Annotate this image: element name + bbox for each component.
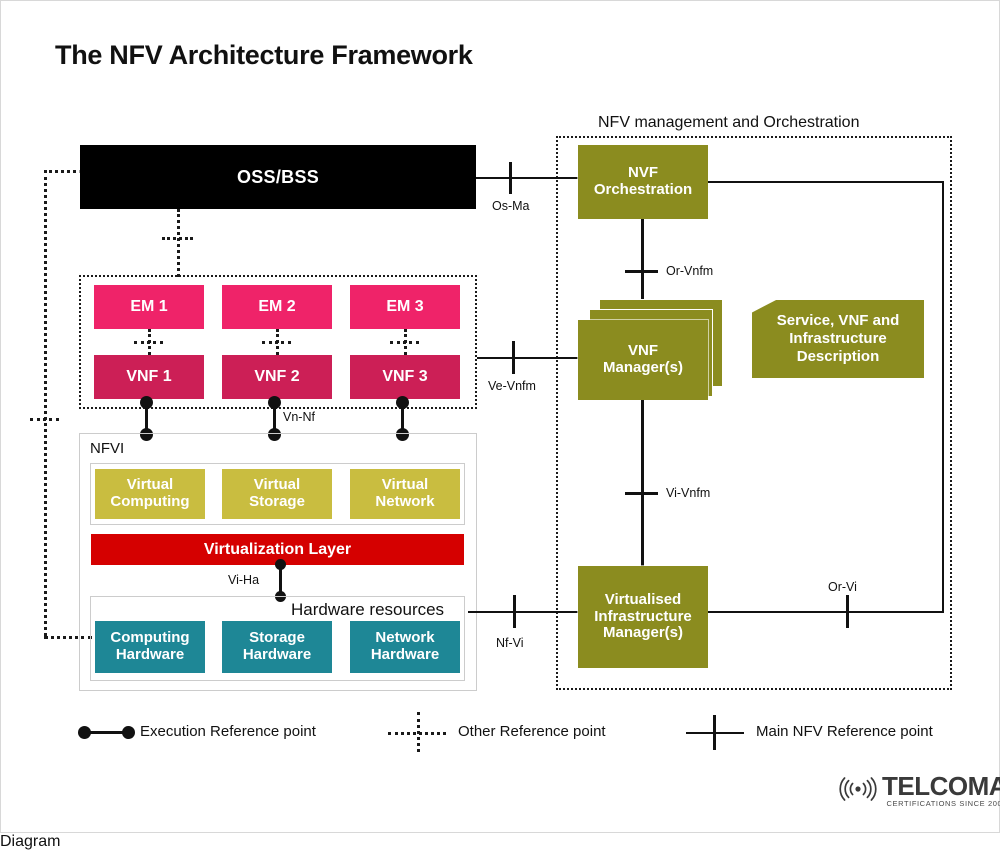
connector-os-ma	[476, 177, 582, 179]
block-computing-hardware[interactable]: ComputingHardware	[95, 621, 205, 673]
block-vnf-2[interactable]: VNF 2	[222, 355, 332, 399]
main-reference-point-tick-ve-vnfm	[512, 341, 515, 374]
reference-label-or-vnfm: Or-Vnfm	[666, 264, 713, 278]
block-virtual-storage[interactable]: VirtualStorage	[222, 469, 332, 519]
legend-execution-dot-right	[122, 726, 135, 739]
block-network-hardware[interactable]: NetworkHardware	[350, 621, 460, 673]
dotted-connector-ossbss-left	[44, 170, 82, 173]
other-reference-point-tick-em3	[390, 341, 419, 344]
legend-execution-dot-left	[78, 726, 91, 739]
nfvi-label: NFVI	[90, 440, 124, 457]
dotted-connector-left-vertical	[44, 170, 47, 636]
block-virtual-network[interactable]: VirtualNetwork	[350, 469, 460, 519]
block-vnf-3[interactable]: VNF 3	[350, 355, 460, 399]
connector-ve-vnfm	[477, 357, 582, 359]
block-vnf-manager[interactable]: VNFManager(s)	[578, 320, 708, 400]
execution-reference-dot-vnf3-top	[396, 396, 409, 409]
other-reference-point-tick-em2	[262, 341, 291, 344]
block-nvf-orchestration[interactable]: NVFOrchestration	[578, 145, 708, 219]
legend-label-execution: Execution Reference point	[140, 723, 316, 740]
main-reference-point-tick-vi-vnfm	[625, 492, 658, 495]
connector-nf-vi	[468, 611, 582, 613]
legend-other-tick	[417, 712, 420, 752]
block-virtual-computing[interactable]: VirtualComputing	[95, 469, 205, 519]
dotted-connector-ossbss-to-em	[177, 209, 180, 277]
diagram-canvas: The NFV Architecture Framework NFV manag…	[0, 0, 1000, 833]
block-virtualised-infrastructure-manager[interactable]: VirtualisedInfrastructureManager(s)	[578, 566, 708, 668]
main-reference-point-tick-os-ma	[509, 162, 512, 194]
reference-label-nf-vi: Nf-Vi	[496, 636, 524, 650]
reference-label-ve-vnfm: Ve-Vnfm	[488, 379, 536, 393]
other-reference-point-tick-ossbss-em	[162, 237, 193, 240]
execution-reference-dot-vi-ha-top	[275, 559, 286, 570]
legend-main-tick	[713, 715, 716, 750]
legend-label-main: Main NFV Reference point	[756, 723, 933, 740]
main-reference-point-tick-or-vi	[846, 595, 849, 628]
connector-or-vi-top	[708, 181, 944, 183]
block-storage-hardware[interactable]: StorageHardware	[222, 621, 332, 673]
connector-or-vi-bottom	[708, 611, 944, 613]
block-em-1[interactable]: EM 1	[94, 285, 204, 329]
block-oss-bss[interactable]: OSS/BSS	[80, 145, 476, 209]
connector-vi-vnfm	[641, 400, 644, 566]
broadcast-signal-icon	[838, 776, 878, 807]
legend-label-other: Other Reference point	[458, 723, 606, 740]
hardware-resources-label: Hardware resources	[291, 600, 444, 620]
block-em-3[interactable]: EM 3	[350, 285, 460, 329]
reference-label-vn-nf: Vn-Nf	[283, 410, 315, 424]
connector-or-vi-right	[942, 181, 944, 611]
block-service-vnf-infrastructure-description[interactable]: Service, VNF andInfrastructureDescriptio…	[752, 300, 924, 378]
logo-wordmark: TELCOMA	[882, 775, 1000, 799]
reference-label-vi-ha: Vi-Ha	[228, 573, 259, 587]
execution-reference-dot-vnf2-top	[268, 396, 281, 409]
page-title: The NFV Architecture Framework	[55, 40, 473, 71]
main-reference-point-tick-nf-vi	[513, 595, 516, 628]
logo-tagline: CERTIFICATIONS SINCE 2009	[886, 799, 1000, 808]
other-reference-point-tick-em1	[134, 341, 163, 344]
reference-label-vi-vnfm: Vi-Vnfm	[666, 486, 710, 500]
other-reference-point-tick-left	[30, 418, 59, 421]
mano-group-label: NFV management and Orchestration	[598, 114, 859, 132]
execution-reference-dot-vnf1-top	[140, 396, 153, 409]
block-vnf-1[interactable]: VNF 1	[94, 355, 204, 399]
reference-label-os-ma: Os-Ma	[492, 199, 530, 213]
block-em-2[interactable]: EM 2	[222, 285, 332, 329]
main-reference-point-tick-or-vnfm	[625, 270, 658, 273]
reference-label-or-vi: Or-Vi	[828, 580, 857, 594]
brand-logo: TELCOMA CERTIFICATIONS SINCE 2009	[838, 775, 1000, 808]
